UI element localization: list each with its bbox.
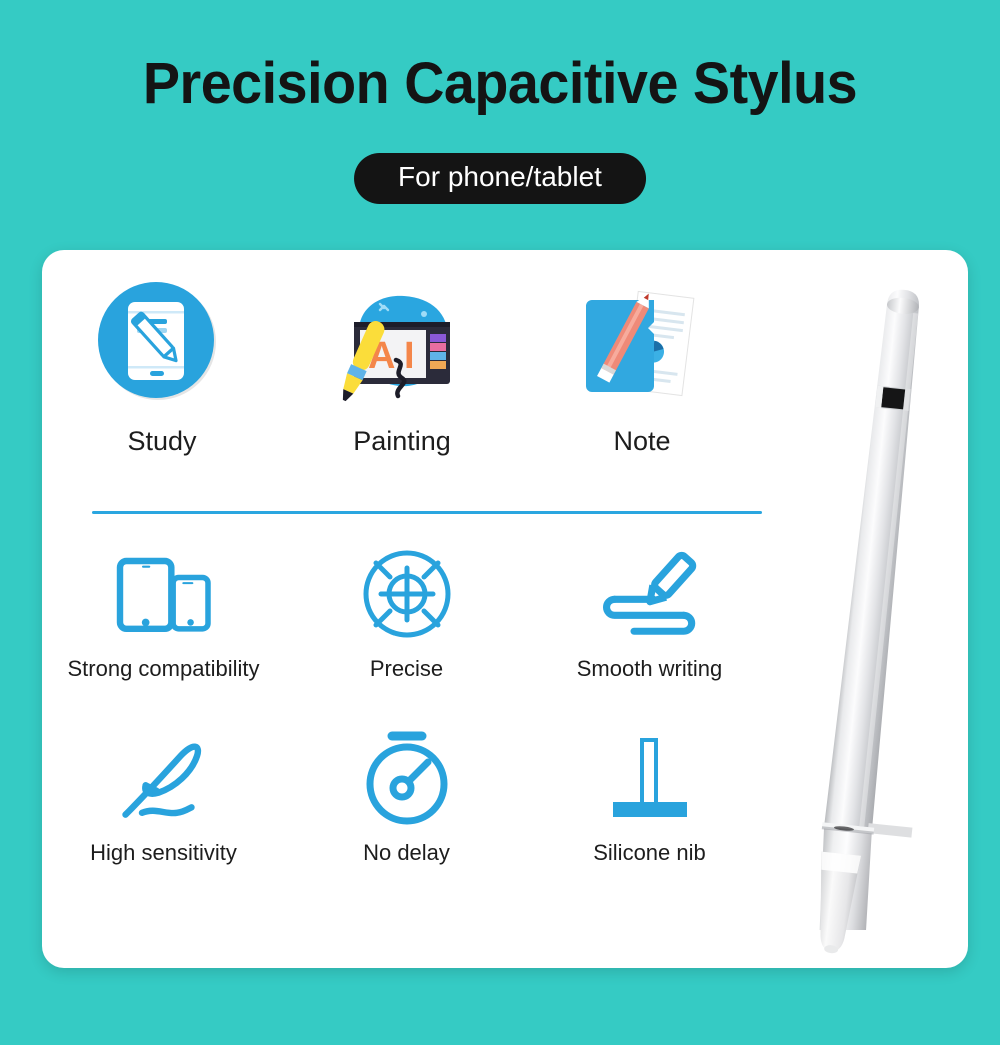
feature-label: Note	[613, 426, 670, 457]
feature-label: No delay	[363, 840, 450, 866]
feature-no-delay: No delay	[285, 726, 528, 866]
feature-grid: Strong compatibility	[42, 542, 772, 866]
feature-label: Silicone nib	[593, 840, 706, 866]
feature-label: Smooth writing	[577, 656, 723, 682]
subtitle-badge: For phone/tablet	[354, 153, 646, 204]
crosshair-target-icon	[352, 542, 462, 646]
pen-stroke-icon	[595, 542, 705, 646]
top-feature-row: Study	[42, 278, 762, 457]
feature-silicone-nib: Silicone nib	[528, 726, 771, 866]
feather-quill-icon	[109, 726, 219, 830]
feature-grid-row-2: High sensitivity No delay	[42, 726, 772, 866]
feature-precise: Precise	[285, 542, 528, 682]
feature-painting: A I Painting	[282, 278, 522, 457]
feature-card: Study	[42, 250, 968, 968]
svg-text:I: I	[404, 335, 415, 377]
feature-label: Painting	[353, 426, 451, 457]
tablet-phone-devices-icon	[109, 542, 219, 646]
painting-tablet-brush-icon: A I	[336, 278, 468, 410]
feature-high-sensitivity: High sensitivity	[42, 726, 285, 866]
feature-study: Study	[42, 278, 282, 457]
study-phone-pencil-icon	[96, 278, 228, 410]
header-banner: Precision Capacitive Stylus For phone/ta…	[0, 0, 1000, 250]
feature-grid-row-1: Strong compatibility	[42, 542, 772, 682]
page-title: Precision Capacitive Stylus	[20, 50, 980, 117]
feature-label: Strong compatibility	[68, 656, 260, 682]
note-folder-pencil-papers-icon	[576, 278, 708, 410]
feature-strong-compatibility: Strong compatibility	[42, 542, 285, 682]
feature-smooth-writing: Smooth writing	[528, 542, 771, 682]
section-divider	[92, 511, 762, 514]
stopwatch-icon	[352, 726, 462, 830]
feature-note: Note	[522, 278, 762, 457]
feature-label: High sensitivity	[90, 840, 237, 866]
feature-label: Precise	[370, 656, 443, 682]
feature-label: Study	[127, 426, 196, 457]
nib-tip-icon	[595, 726, 705, 830]
